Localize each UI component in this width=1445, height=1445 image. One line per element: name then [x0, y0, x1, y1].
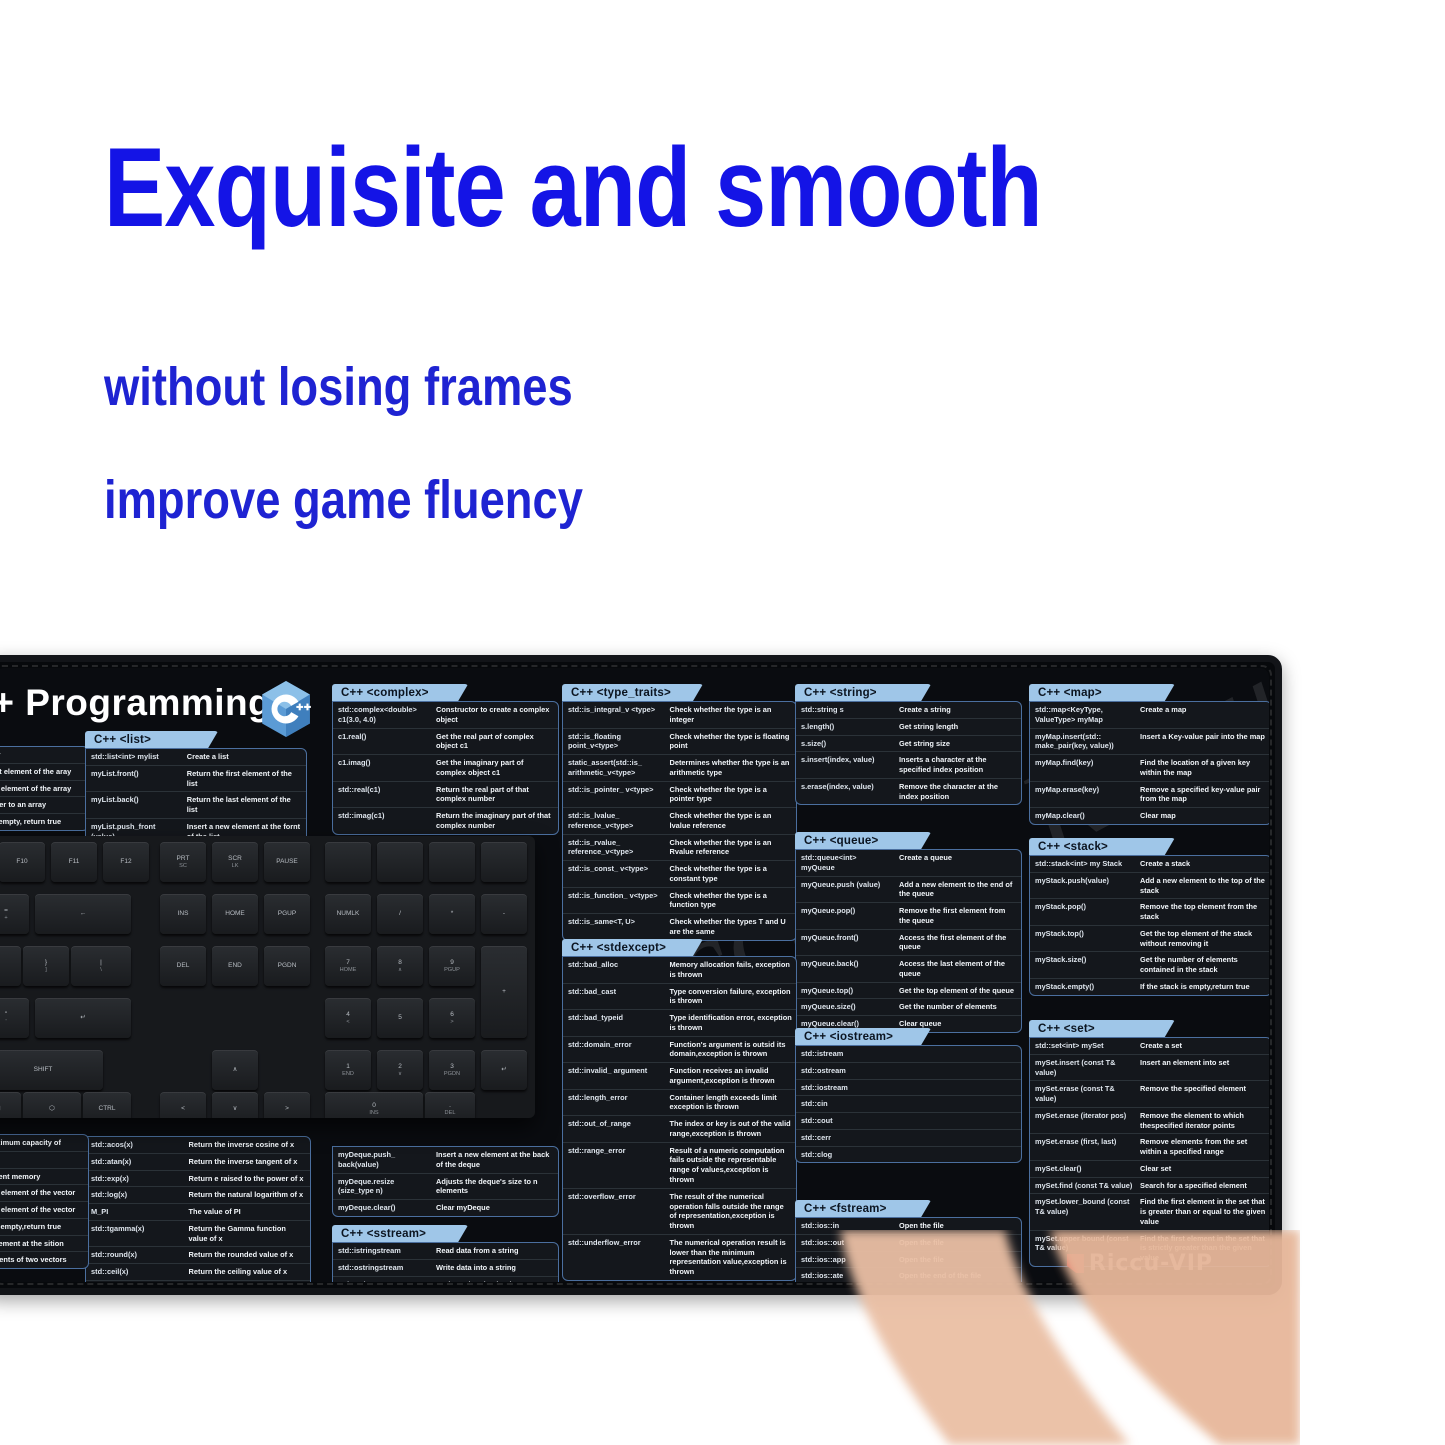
row-key: std::real(c1)	[333, 782, 432, 808]
row-value: Check whether the type is floating point	[666, 729, 796, 755]
row-key: std::round(x)	[86, 1247, 185, 1263]
row-key: std::stack<int> my Stack	[1030, 856, 1136, 872]
key-fn[interactable]: ⬡	[23, 1092, 81, 1118]
card-deque: myDeque.push_ back(value)Insert a new el…	[332, 1146, 559, 1217]
row-value: Adjusts the deque's size to n elements	[432, 1174, 558, 1200]
marketing-subline-2: improve game fluency	[104, 473, 583, 527]
key-arrow-up[interactable]: ∧	[212, 1050, 258, 1090]
key-bracket-left[interactable]: {[	[0, 946, 21, 986]
row-value: Get the real part of complex object c1	[432, 729, 558, 755]
row-value: Return the imaginary part of that comple…	[432, 808, 558, 834]
table-row: myMap.find(key)Find the location of a gi…	[1030, 755, 1269, 782]
key-arrow-down[interactable]: ∨	[212, 1092, 258, 1118]
row-value: The value of PI	[185, 1204, 310, 1220]
card-vector: aximum capacity ofrcient memoryst elemen…	[0, 1134, 89, 1269]
row-value: Return the first element of the list	[183, 766, 306, 792]
card-iostream: C++ <iostream> std::istreamstd::ostreams…	[795, 1028, 1022, 1163]
row-value: Create a list	[183, 749, 306, 765]
key-quote[interactable]: "'	[0, 998, 29, 1038]
card-sstream-body: std::istringstreamRead data from a strin…	[332, 1242, 559, 1282]
row-key: std::istream	[796, 1046, 895, 1062]
row-value: nter to an array	[0, 797, 88, 813]
row-value: Return the Gamma function value of x	[185, 1221, 310, 1247]
key-numpad-1[interactable]: 1END	[325, 1050, 371, 1090]
table-row: std::string sCreate a string	[796, 702, 1021, 719]
row-key: std::is_function_ v<type>	[563, 888, 666, 914]
row-key: myMap.erase(key)	[1030, 782, 1136, 808]
row-key: mySet.find (const T& value)	[1030, 1178, 1136, 1194]
table-row: std::stack<int> my StackCreate a stack	[1030, 856, 1269, 873]
row-key: std::ostream	[796, 1063, 895, 1079]
row-key: M_PI	[86, 1204, 185, 1220]
row-value: Remove the specified element	[1136, 1081, 1269, 1107]
row-value: Insert a Key-value pair into the map	[1136, 729, 1269, 755]
key-numpad-9[interactable]: 9PGUP	[429, 946, 475, 986]
key-backslash[interactable]: |\	[71, 946, 131, 986]
row-key: std::string s	[796, 702, 895, 718]
row-value	[895, 1130, 1021, 1146]
row-value: Get the number of elements contained in …	[1136, 952, 1269, 978]
row-value: Result of a numeric computation fails ou…	[666, 1143, 796, 1188]
card-complex-body: std::complex<double> c1(3.0, 4.0)Constru…	[332, 701, 559, 835]
key-arrow-right[interactable]: >	[264, 1092, 310, 1118]
row-value: st element of the vector	[0, 1185, 88, 1201]
row-key: mySet.erase (first, last)	[1030, 1134, 1136, 1160]
table-row: std::ostream	[796, 1063, 1021, 1080]
row-value: Find the location of a given key within …	[1136, 755, 1269, 781]
table-row: std::floor(x)Return the floor value of x	[86, 1281, 310, 1282]
table-row: std::overflow_errorThe result of the num…	[563, 1189, 796, 1235]
row-value: Create a map	[1136, 702, 1269, 728]
key-pgup[interactable]: PGUP	[264, 894, 310, 934]
table-row: std::is_lvalue_ reference_v<type>Check w…	[563, 808, 796, 835]
key-f12[interactable]: F12	[103, 842, 149, 882]
key-numpad-plus[interactable]: +	[481, 946, 527, 1038]
table-row: myMap.insert(std:: make_pair(key, value)…	[1030, 729, 1269, 756]
table-row: std::is_floating point_v<type>Check whet…	[563, 729, 796, 756]
key-indicator-0[interactable]	[325, 842, 371, 882]
card-string-title: C++ <string>	[795, 684, 931, 701]
key-bracket-right[interactable]: }]	[23, 946, 69, 986]
row-key: std::istringstream	[333, 1243, 432, 1259]
row-value	[895, 1147, 1021, 1163]
row-value: Inserts a character at the specified ind…	[895, 752, 1021, 778]
table-row: std::is_integral_v <type>Check whether t…	[563, 702, 796, 729]
row-key: myDeque.resize (size_type n)	[333, 1174, 432, 1200]
row-value: Remove the top element from the stack	[1136, 899, 1269, 925]
card-list-body: std::list<int> mylistCreate a listmyList…	[85, 748, 307, 845]
table-row: st element of the vector	[0, 1202, 88, 1219]
row-value: Check whether the type is an lvalue refe…	[666, 808, 796, 834]
table-row: std::iostream	[796, 1080, 1021, 1097]
row-value: Check whether the type is a constant typ…	[666, 861, 796, 887]
row-value: Write data into a string	[432, 1260, 558, 1276]
table-row: ay	[0, 747, 88, 764]
key-numpad-0[interactable]: 0INS	[325, 1092, 423, 1118]
row-value	[895, 1096, 1021, 1112]
row-value: Function's argument is outsid its domain…	[666, 1037, 796, 1063]
row-value: Get string length	[895, 719, 1021, 735]
table-row: myDeque.clear()Clear myDeque	[333, 1200, 558, 1216]
key-numpad-multiply[interactable]: *	[429, 894, 475, 934]
row-value: Access the last element of the queue	[895, 956, 1021, 982]
row-value: Remove the character at the index positi…	[895, 779, 1021, 805]
card-queue: C++ <queue> std::queue<int> myQueueCreat…	[795, 832, 1022, 1033]
table-row: std::is_pointer_ v<type>Check whether th…	[563, 782, 796, 809]
table-row: st element of the vector	[0, 1185, 88, 1202]
card-stack: C++ <stack> std::stack<int> my StackCrea…	[1029, 838, 1269, 996]
key-numpad-divide[interactable]: /	[377, 894, 423, 934]
table-row: std::cout	[796, 1113, 1021, 1130]
row-value: Check whether the type is a function typ…	[666, 888, 796, 914]
row-key: s.erase(index, value)	[796, 779, 895, 805]
row-key: std::clog	[796, 1147, 895, 1163]
row-key: mySet.insert (const T& value)	[1030, 1055, 1136, 1081]
row-value: Type conversion failure, exception is th…	[666, 984, 796, 1010]
row-key: s.size()	[796, 736, 895, 752]
key-numpad-del[interactable]: .DEL	[425, 1092, 475, 1118]
key-del[interactable]: DEL	[160, 946, 206, 986]
row-key: std::domain_error	[563, 1037, 666, 1063]
key-prt[interactable]: PRTSC	[160, 842, 206, 882]
row-value: Create a string	[895, 702, 1021, 718]
table-row: std::range_errorResult of a numeric comp…	[563, 1143, 796, 1189]
row-key: std::is_lvalue_ reference_v<type>	[563, 808, 666, 834]
row-value: Create a queue	[895, 850, 1021, 876]
key-pause[interactable]: PAUSE	[264, 842, 310, 882]
row-key: std::is_rvalue_ reference_v<type>	[563, 835, 666, 861]
marketing-headline: Exquisite and smooth	[104, 132, 1042, 244]
card-fstream-title: C++ <fstream>	[795, 1200, 931, 1217]
key-f11[interactable]: F11	[51, 842, 97, 882]
row-key: s.length()	[796, 719, 895, 735]
row-value: Get string size	[895, 736, 1021, 752]
card-cmath: std::acos(x)Return the inverse cosine of…	[85, 1136, 311, 1282]
row-key: mySet.clear()	[1030, 1161, 1136, 1177]
row-key: std::range_error	[563, 1143, 666, 1188]
row-value: Remove a specified key-value pair from t…	[1136, 782, 1269, 808]
key-numpad-6[interactable]: 6>	[429, 998, 475, 1038]
table-row: myStack.push(value)Add a new element to …	[1030, 873, 1269, 900]
card-sstream-title: C++ <sstream>	[332, 1225, 468, 1242]
row-value	[895, 1046, 1021, 1062]
row-key: myQueue.front()	[796, 930, 895, 956]
row-value: Return the ceiling value of x	[185, 1264, 310, 1280]
row-value: Both read and write data	[432, 1277, 558, 1282]
card-set-title: C++ <set>	[1029, 1020, 1175, 1037]
row-value: Return the inverse tangent of x	[185, 1154, 310, 1170]
row-key: std::invalid_ argument	[563, 1063, 666, 1089]
card-deque-body: myDeque.push_ back(value)Insert a new el…	[332, 1146, 559, 1217]
table-row: mySet.erase (const T& value)Remove the s…	[1030, 1081, 1269, 1108]
table-row: myQueue.back()Access the last element of…	[796, 956, 1021, 983]
card-stdexcept-title: C++ <stdexcept>	[562, 939, 703, 956]
key-equals[interactable]: =+	[0, 894, 29, 934]
row-key: myStack.pop()	[1030, 899, 1136, 925]
table-row: mySet.lower_bound (const T& value)Find t…	[1030, 1194, 1269, 1230]
table-row: std::is_function_ v<type>Check whether t…	[563, 888, 796, 915]
row-key: std::bad_cast	[563, 984, 666, 1010]
row-value: st element of the vector	[0, 1202, 88, 1218]
row-key: std::is_floating point_v<type>	[563, 729, 666, 755]
key-pgdn[interactable]: PGDN	[264, 946, 310, 986]
row-key: std::bad_typeid	[563, 1010, 666, 1036]
key-numpad-minus[interactable]: -	[481, 894, 527, 934]
card-map: C++ <map> std::map<KeyType, ValueType> m…	[1029, 684, 1269, 825]
table-row: myQueue.top()Get the top element of the …	[796, 983, 1021, 1000]
table-row: mySet.erase (iterator pos)Remove the ele…	[1030, 1108, 1269, 1135]
card-sstream: C++ <sstream> std::istringstreamRead dat…	[332, 1225, 559, 1282]
table-row: std::ceil(x)Return the ceiling value of …	[86, 1264, 310, 1281]
row-value: Type identification error, exception is …	[666, 1010, 796, 1036]
table-row: M_PIThe value of PI	[86, 1204, 310, 1221]
row-key: myQueue.back()	[796, 956, 895, 982]
row-key: std::out_of_range	[563, 1116, 666, 1142]
key-numlock[interactable]: NUMLK	[325, 894, 371, 934]
marketing-subline-1: without losing frames	[104, 360, 573, 414]
table-row: std::length_errorContainer length exceed…	[563, 1090, 796, 1117]
row-value: Return e raised to the power of x	[185, 1171, 310, 1187]
row-value: The result of the numerical operation fa…	[666, 1189, 796, 1234]
row-key: std::iostream	[796, 1080, 895, 1096]
card-array: ayrst element of the arayst element of t…	[0, 746, 89, 831]
table-row: std::real(c1)Return the real part of tha…	[333, 782, 558, 809]
pad-title: C++ Programming	[0, 682, 271, 724]
card-vector-body: aximum capacity ofrcient memoryst elemen…	[0, 1134, 89, 1269]
table-row: myMap.clear()Clear map	[1030, 808, 1269, 824]
table-row: std::atan(x)Return the inverse tangent o…	[86, 1154, 310, 1171]
table-row: myDeque.push_ back(value)Insert a new el…	[333, 1147, 558, 1174]
table-row: std::cerr	[796, 1130, 1021, 1147]
cpp-logo-icon	[260, 680, 312, 738]
key-indicator-3[interactable]	[481, 842, 527, 882]
table-row: std::is_rvalue_ reference_v<type>Check w…	[563, 835, 796, 862]
card-list: C++ <list> std::list<int> mylistCreate a…	[85, 731, 307, 845]
row-value: Constructor to create a complex object	[432, 702, 558, 728]
row-key: c1.imag()	[333, 755, 432, 781]
row-value: aximum capacity of	[0, 1135, 88, 1151]
row-value: Return the inverse cosine of x	[185, 1137, 310, 1153]
key-numpad-enter[interactable]: ↵	[481, 1050, 527, 1090]
table-row: std::stringstreamBoth read and write dat…	[333, 1277, 558, 1282]
row-value: Check whether the type is an Rvalue refe…	[666, 835, 796, 861]
row-key: myMap.find(key)	[1030, 755, 1136, 781]
table-row: std::bad_castType conversion failure, ex…	[563, 984, 796, 1011]
row-value: ay	[0, 747, 88, 763]
row-key: myQueue.size()	[796, 999, 895, 1015]
key-numpad-3[interactable]: 3PGDN	[429, 1050, 475, 1090]
table-row: s.insert(index, value)Inserts a characte…	[796, 752, 1021, 779]
row-value: If the stack is empty,return true	[1136, 979, 1269, 995]
key-numpad-8[interactable]: 8∧	[377, 946, 423, 986]
table-row: std::exp(x)Return e raised to the power …	[86, 1171, 310, 1188]
row-value: Check whether the type is a pointer type	[666, 782, 796, 808]
row-key: myQueue.push (value)	[796, 877, 895, 903]
row-key: std::stringstream	[333, 1277, 432, 1282]
key-numpad-5[interactable]: 5	[377, 998, 423, 1038]
card-iostream-body: std::istreamstd::ostreamstd::iostreamstd…	[795, 1045, 1022, 1163]
key-scr[interactable]: SCRLK	[212, 842, 258, 882]
row-value: Add a new element to the end of the queu…	[895, 877, 1021, 903]
key-indicator-2[interactable]	[429, 842, 475, 882]
row-key: myDeque.push_ back(value)	[333, 1147, 432, 1173]
card-queue-body: std::queue<int> myQueueCreate a queuemyQ…	[795, 849, 1022, 1033]
table-row: myQueue.size()Get the number of elements	[796, 999, 1021, 1016]
key-home[interactable]: HOME	[212, 894, 258, 934]
row-value: Insert a new element at the back of the …	[432, 1147, 558, 1173]
key-enter[interactable]: ↵	[35, 998, 131, 1038]
card-stack-body: std::stack<int> my StackCreate a stackmy…	[1029, 855, 1269, 996]
card-map-body: std::map<KeyType, ValueType> myMapCreate…	[1029, 701, 1269, 825]
row-value: Search for a specified element	[1136, 1178, 1269, 1194]
row-key: myStack.empty()	[1030, 979, 1136, 995]
row-key: c1.real()	[333, 729, 432, 755]
row-key: myQueue.top()	[796, 983, 895, 999]
row-value: Clear myDeque	[432, 1200, 558, 1216]
forearms	[700, 1230, 1300, 1445]
row-key: myStack.top()	[1030, 926, 1136, 952]
table-row: myStack.empty()If the stack is empty,ret…	[1030, 979, 1269, 995]
row-key: myList.back()	[86, 792, 183, 818]
row-key: myQueue.pop()	[796, 903, 895, 929]
table-row: rst element of the aray	[0, 764, 88, 781]
row-key: std::set<int> mySet	[1030, 1038, 1136, 1054]
table-row: myStack.size()Get the number of elements…	[1030, 952, 1269, 979]
key-end[interactable]: END	[212, 946, 258, 986]
row-key: std::queue<int> myQueue	[796, 850, 895, 876]
card-complex-title: C++ <complex>	[332, 684, 468, 701]
table-row: std::bad_allocMemory allocation fails, e…	[563, 957, 796, 984]
table-row: std::complex<double> c1(3.0, 4.0)Constru…	[333, 702, 558, 729]
keyboard[interactable]: F9F10F11F12PRTSCSCRLKPAUSE––=+←INSHOMEPG…	[0, 836, 535, 1118]
row-value: rst element of the aray	[0, 764, 88, 780]
row-value: Return the real part of that complex num…	[432, 782, 558, 808]
row-key: s.insert(index, value)	[796, 752, 895, 778]
table-row: c1.imag()Get the imaginary part of compl…	[333, 755, 558, 782]
row-key: std::bad_alloc	[563, 957, 666, 983]
row-value: Add a new element to the top of the stac…	[1136, 873, 1269, 899]
table-row: static_assert(std::is_ arithmetic_v<type…	[563, 755, 796, 782]
row-value: cient memory	[0, 1169, 88, 1185]
row-value: Container length exceeds limit exception…	[666, 1090, 796, 1116]
row-key: std::floor(x)	[86, 1281, 185, 1282]
row-value: Determines whether the type is an arithm…	[666, 755, 796, 781]
card-iostream-title: C++ <iostream>	[795, 1028, 931, 1045]
row-key: std::acos(x)	[86, 1137, 185, 1153]
key-f10[interactable]: F10	[0, 842, 45, 882]
row-value: is empty,return true	[0, 1219, 88, 1235]
row-key: myDeque.clear()	[333, 1200, 432, 1216]
row-value	[895, 1063, 1021, 1079]
row-key: std::cerr	[796, 1130, 895, 1146]
mousepad: Riccu Riccu Riccu C++ Programming ayrst …	[0, 655, 1282, 1295]
row-key: std::complex<double> c1(3.0, 4.0)	[333, 702, 432, 728]
row-value: Return the rounded value of x	[185, 1247, 310, 1263]
table-row: myStack.top()Get the top element of the …	[1030, 926, 1269, 953]
table-row: std::out_of_rangeThe index or key is out…	[563, 1116, 796, 1143]
row-key: std::underflow_error	[563, 1235, 666, 1280]
key-ins[interactable]: INS	[160, 894, 206, 934]
row-value: Get the imaginary part of complex object…	[432, 755, 558, 781]
table-row: is empty,return true	[0, 1219, 88, 1236]
row-key: std::overflow_error	[563, 1189, 666, 1234]
table-row: mySet.erase (first, last)Remove elements…	[1030, 1134, 1269, 1161]
card-map-title: C++ <map>	[1029, 684, 1175, 701]
table-row: std::is_same<T, U>Check whether the type…	[563, 914, 796, 940]
row-key: std::atan(x)	[86, 1154, 185, 1170]
key-shift-right[interactable]: SHIFT	[0, 1050, 103, 1090]
card-string: C++ <string> std::string sCreate a strin…	[795, 684, 1022, 805]
row-key: myMap.insert(std:: make_pair(key, value)…	[1030, 729, 1136, 755]
row-value: Read data from a string	[432, 1243, 558, 1259]
product-image: Exquisite and smooth without losing fram…	[0, 0, 1445, 1445]
card-array-body: ayrst element of the arayst element of t…	[0, 746, 89, 831]
card-stack-title: C++ <stack>	[1029, 838, 1175, 855]
row-value: st element of the array	[0, 781, 88, 797]
table-row: std::log(x)Return the natural logarithm …	[86, 1187, 310, 1204]
table-row: mySet.find (const T& value)Search for a …	[1030, 1178, 1269, 1195]
table-row: myQueue.push (value)Add a new element to…	[796, 877, 1021, 904]
table-row: std::istream	[796, 1046, 1021, 1063]
row-value: Remove elements from the set within a sp…	[1136, 1134, 1269, 1160]
row-value: ntents of two vectors	[0, 1252, 88, 1268]
table-row: std::domain_errorFunction's argument is …	[563, 1037, 796, 1064]
row-value: r	[0, 1152, 88, 1168]
table-row: std::bad_typeidType identification error…	[563, 1010, 796, 1037]
row-key: std::log(x)	[86, 1187, 185, 1203]
key-arrow-left[interactable]: <	[160, 1092, 206, 1118]
row-value: Remove the first element from the queue	[895, 903, 1021, 929]
row-value	[895, 1113, 1021, 1129]
key-indicator-1[interactable]	[377, 842, 423, 882]
table-row: s.length()Get string length	[796, 719, 1021, 736]
table-row: s.erase(index, value)Remove the characte…	[796, 779, 1021, 805]
card-type-traits-title: C++ <type_traits>	[562, 684, 703, 701]
card-type-traits: C++ <type_traits> std::is_integral_v <ty…	[562, 684, 797, 941]
card-complex: C++ <complex> std::complex<double> c1(3.…	[332, 684, 559, 835]
card-type-traits-body: std::is_integral_v <type>Check whether t…	[562, 701, 797, 941]
key-ctrl[interactable]: CTRL	[83, 1092, 131, 1118]
table-row: aximum capacity of	[0, 1135, 88, 1152]
table-row: std::clog	[796, 1147, 1021, 1163]
key-numpad-4[interactable]: 4<	[325, 998, 371, 1038]
row-key: mySet.erase (iterator pos)	[1030, 1108, 1136, 1134]
key-backspace[interactable]: ←	[35, 894, 131, 934]
key-windows[interactable]: ⊞	[0, 1092, 21, 1118]
table-row: cient memory	[0, 1169, 88, 1186]
card-string-body: std::string sCreate a strings.length()Ge…	[795, 701, 1022, 805]
row-key: mySet.lower_bound (const T& value)	[1030, 1194, 1136, 1229]
row-key: myStack.size()	[1030, 952, 1136, 978]
key-numpad-2[interactable]: 2∨	[377, 1050, 423, 1090]
card-list-title: C++ <list>	[85, 731, 218, 748]
row-value	[895, 1080, 1021, 1096]
mousepad-surface: Riccu Riccu Riccu C++ Programming ayrst …	[0, 668, 1269, 1282]
row-key: static_assert(std::is_ arithmetic_v<type…	[563, 755, 666, 781]
row-value: Get the top element of the stack without…	[1136, 926, 1269, 952]
row-key: std::ostringstream	[333, 1260, 432, 1276]
table-row: myDeque.resize (size_type n)Adjusts the …	[333, 1174, 558, 1201]
key-numpad-7[interactable]: 7HOME	[325, 946, 371, 986]
table-row: std::cin	[796, 1096, 1021, 1113]
row-value: The index or key is out of the valid ran…	[666, 1116, 796, 1142]
row-value: element at the sition	[0, 1236, 88, 1252]
table-row: myQueue.pop()Remove the first element fr…	[796, 903, 1021, 930]
card-queue-title: C++ <queue>	[795, 832, 931, 849]
table-row: myStack.pop()Remove the top element from…	[1030, 899, 1269, 926]
table-row: element at the sition	[0, 1236, 88, 1253]
table-row: std::queue<int> myQueueCreate a queue	[796, 850, 1021, 877]
